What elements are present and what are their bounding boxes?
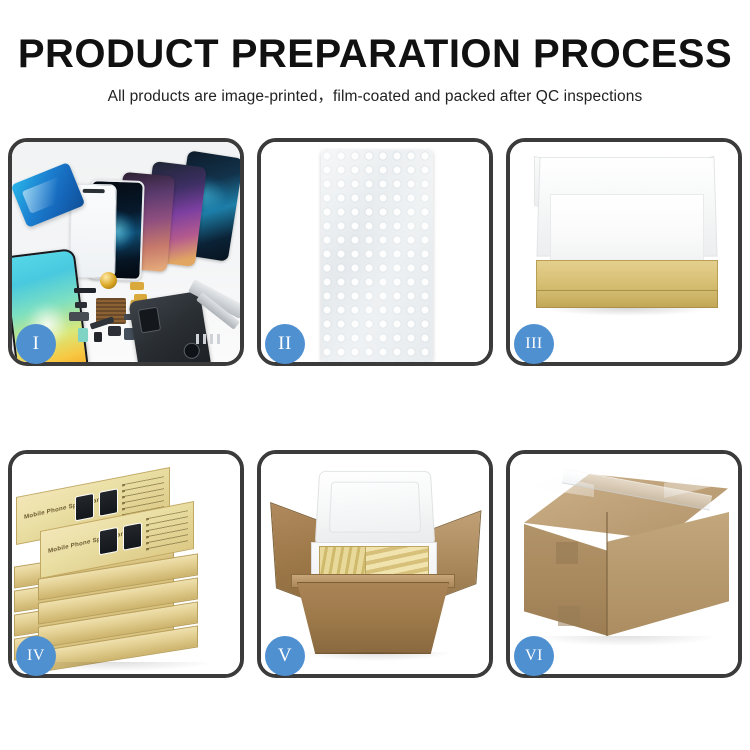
gold-box-front bbox=[536, 290, 718, 308]
spare-part-connector bbox=[69, 312, 89, 321]
process-step-card-2[interactable]: II bbox=[257, 138, 493, 366]
spare-part-battery bbox=[78, 328, 88, 342]
box-checklist-2 bbox=[146, 510, 188, 552]
step-badge-1: I bbox=[16, 324, 56, 364]
step-badge-4: IV bbox=[16, 636, 56, 676]
box-stack: Mobile Phone Spare Parts Mobile Phone Sp… bbox=[12, 474, 222, 664]
drop-shadow bbox=[542, 308, 712, 316]
process-step-card-1[interactable]: I bbox=[8, 138, 244, 366]
process-step-card-5[interactable]: V bbox=[257, 450, 493, 678]
step-badge-3: III bbox=[514, 324, 554, 364]
box-art-phone-d bbox=[123, 522, 142, 551]
carton-corner-seam bbox=[606, 512, 608, 636]
drop-shadow bbox=[536, 636, 716, 646]
page-subtitle: All products are image-printed，film-coat… bbox=[0, 84, 750, 106]
page-title: PRODUCT PREPARATION PROCESS bbox=[0, 33, 750, 76]
tape-patch-upper bbox=[556, 542, 578, 564]
box-art-phone-b bbox=[99, 488, 118, 517]
screw-set bbox=[196, 334, 222, 344]
spare-part-chip-a bbox=[75, 302, 87, 308]
header: PRODUCT PREPARATION PROCESS All products… bbox=[0, 0, 750, 125]
process-step-card-3[interactable]: III bbox=[506, 138, 742, 366]
box-art-phone-a bbox=[75, 493, 94, 522]
box-art-phone-c bbox=[99, 527, 118, 556]
drop-shadow bbox=[301, 652, 451, 661]
spare-part-chip-b bbox=[94, 332, 102, 342]
carton-body bbox=[297, 582, 449, 654]
step-badge-5: V bbox=[265, 636, 305, 676]
step-badge-2: II bbox=[265, 324, 305, 364]
tape-patch-lower bbox=[558, 606, 580, 626]
spare-part-flex-a bbox=[130, 282, 144, 290]
process-steps-grid: I II bbox=[8, 138, 742, 678]
step-badge-6: VI bbox=[514, 636, 554, 676]
foam-sheet bbox=[550, 194, 704, 264]
spare-part-strip bbox=[74, 288, 96, 293]
product-preparation-infographic: PRODUCT PREPARATION PROCESS All products… bbox=[0, 0, 750, 750]
plastic-sheen bbox=[321, 150, 433, 362]
spare-part-speaker bbox=[100, 272, 117, 289]
foam-box-lid bbox=[315, 471, 436, 546]
process-step-card-4[interactable]: Mobile Phone Spare Parts Mobile Phone Sp… bbox=[8, 450, 244, 678]
spare-part-camera bbox=[108, 326, 121, 336]
process-step-card-6[interactable]: VI bbox=[506, 450, 742, 678]
